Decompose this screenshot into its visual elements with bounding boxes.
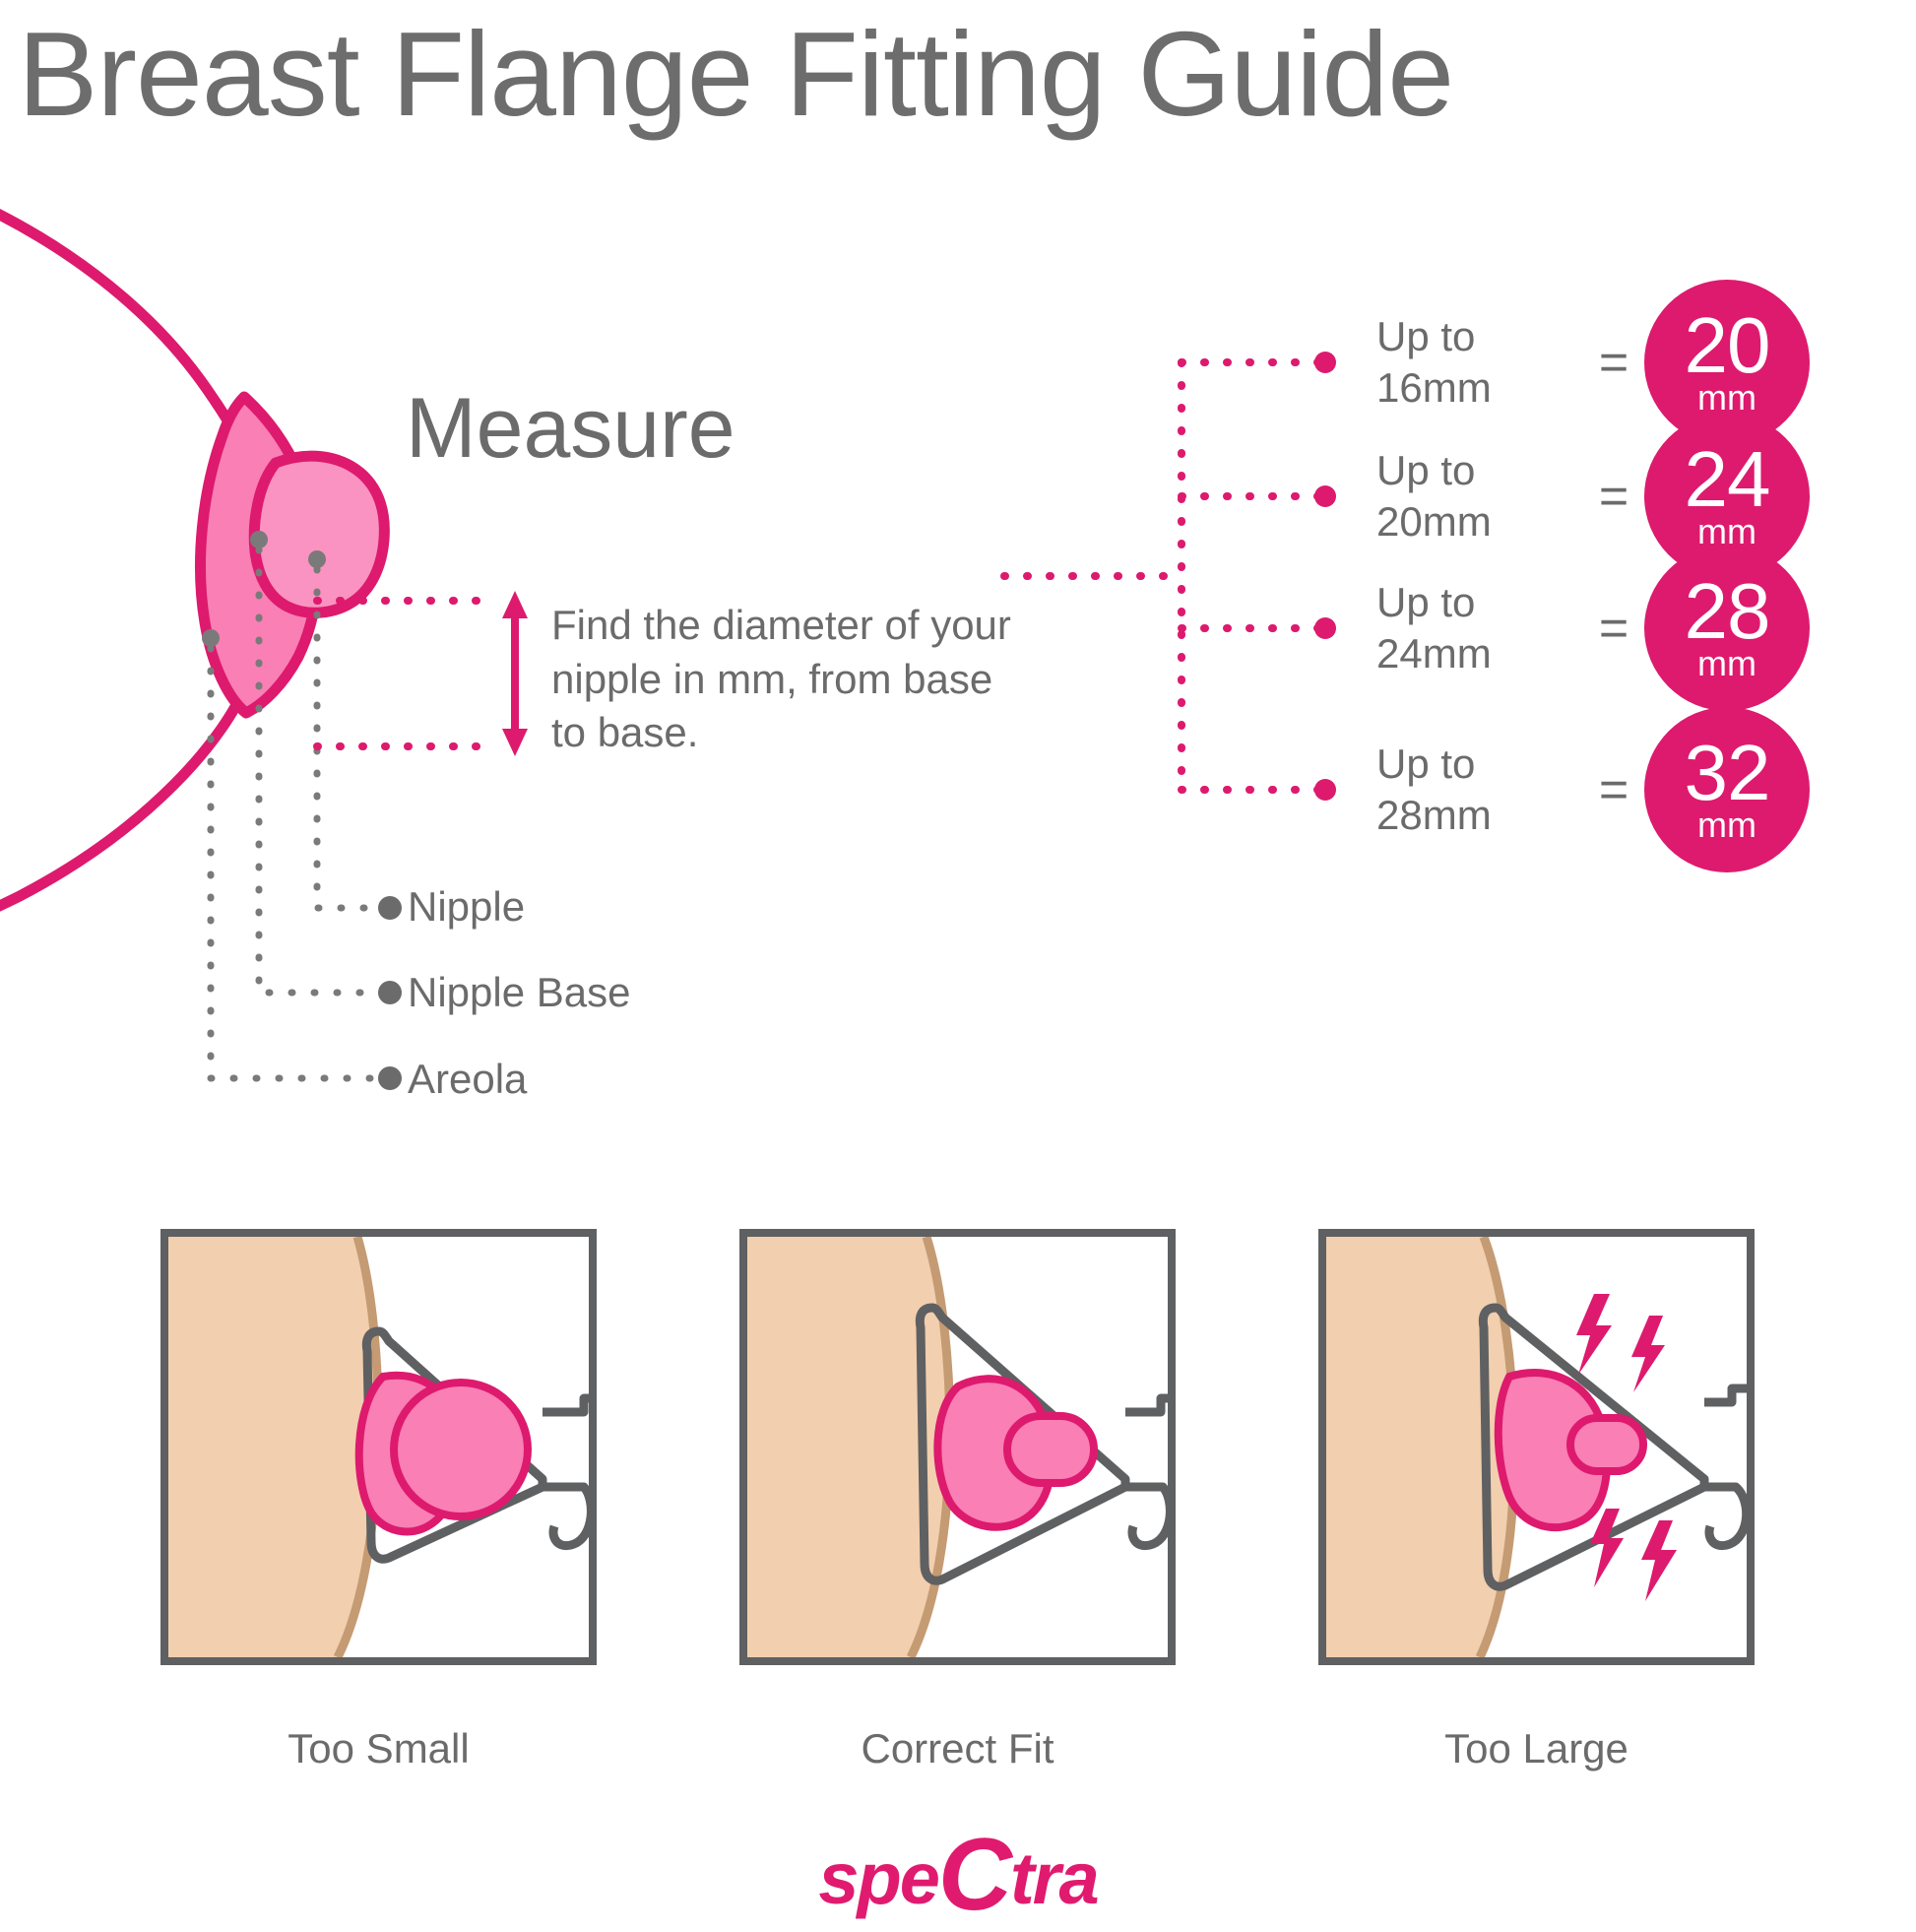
fit-panel-too-large [1318, 1229, 1755, 1665]
dot-areola-label [378, 1066, 402, 1090]
bracket-endpoint-2 [1314, 485, 1336, 507]
size-range-label: Up to 16mm [1376, 311, 1583, 415]
measure-caliper [295, 571, 591, 778]
fit-caption-too-large: Too Large [1318, 1728, 1755, 1770]
fit-caption-too-small: Too Small [160, 1728, 597, 1770]
size-row: Up to 28mm = 32 mm [1376, 706, 1810, 873]
measure-double-arrow [502, 591, 528, 756]
size-range-label: Up to 28mm [1376, 739, 1583, 842]
anatomy-label-areola: Areola [408, 1059, 527, 1100]
fit-caption-correct-fit: Correct Fit [739, 1728, 1176, 1770]
equals-symbol: = [1583, 337, 1644, 388]
breast-contour-path-lower [0, 679, 248, 955]
flange-size-badge: 32 mm [1644, 707, 1810, 872]
logo-text-pre: spe [818, 1837, 938, 1919]
dot-nipple-label [378, 896, 402, 920]
equals-symbol: = [1583, 471, 1644, 522]
flange-size-unit: mm [1697, 807, 1756, 843]
page-title: Breast Flange Fitting Guide [18, 14, 1888, 134]
flange-size-unit: mm [1697, 646, 1756, 681]
measure-instruction-text: Find the diameter of your nipple in mm, … [551, 599, 1014, 760]
nipple-stretched [1570, 1418, 1643, 1471]
anatomy-label-nipple: Nipple [408, 886, 525, 928]
size-range-label: Up to 20mm [1376, 445, 1583, 548]
flange-size-unit: mm [1697, 380, 1756, 416]
size-row: Up to 24mm = 28 mm [1376, 545, 1810, 712]
nipple-drawn-in [1007, 1416, 1094, 1483]
measure-heading: Measure [406, 386, 735, 471]
size-bracket [985, 276, 1378, 857]
size-range-label: Up to 24mm [1376, 577, 1583, 680]
dot-nipple-base-label [378, 981, 402, 1004]
nipple-bulge [394, 1383, 528, 1516]
breast-skin-body [168, 1237, 378, 1657]
flange-size-number: 24 [1685, 443, 1770, 516]
fit-panel-correct-fit [739, 1229, 1176, 1665]
flange-size-number: 32 [1685, 737, 1770, 809]
dot-nipple-anchor [308, 550, 326, 568]
flange-size-badge: 28 mm [1644, 546, 1810, 711]
bracket-endpoint-4 [1314, 779, 1336, 801]
bracket-endpoint-3 [1314, 617, 1336, 639]
fit-panel-too-small [160, 1229, 597, 1665]
flange-size-number: 28 [1685, 575, 1770, 648]
equals-symbol: = [1583, 603, 1644, 654]
bracket-endpoint-1 [1314, 352, 1336, 373]
equals-symbol: = [1583, 764, 1644, 815]
flange-size-number: 20 [1685, 309, 1770, 382]
logo-text-post: tra [1010, 1837, 1098, 1919]
logo-text-cap: C [938, 1818, 1010, 1932]
anatomy-label-nipple-base: Nipple Base [408, 972, 630, 1013]
spectra-logo: speCtra [0, 1824, 1916, 1926]
dot-areola-anchor [202, 629, 220, 647]
dot-nipple-base-anchor [250, 531, 268, 548]
